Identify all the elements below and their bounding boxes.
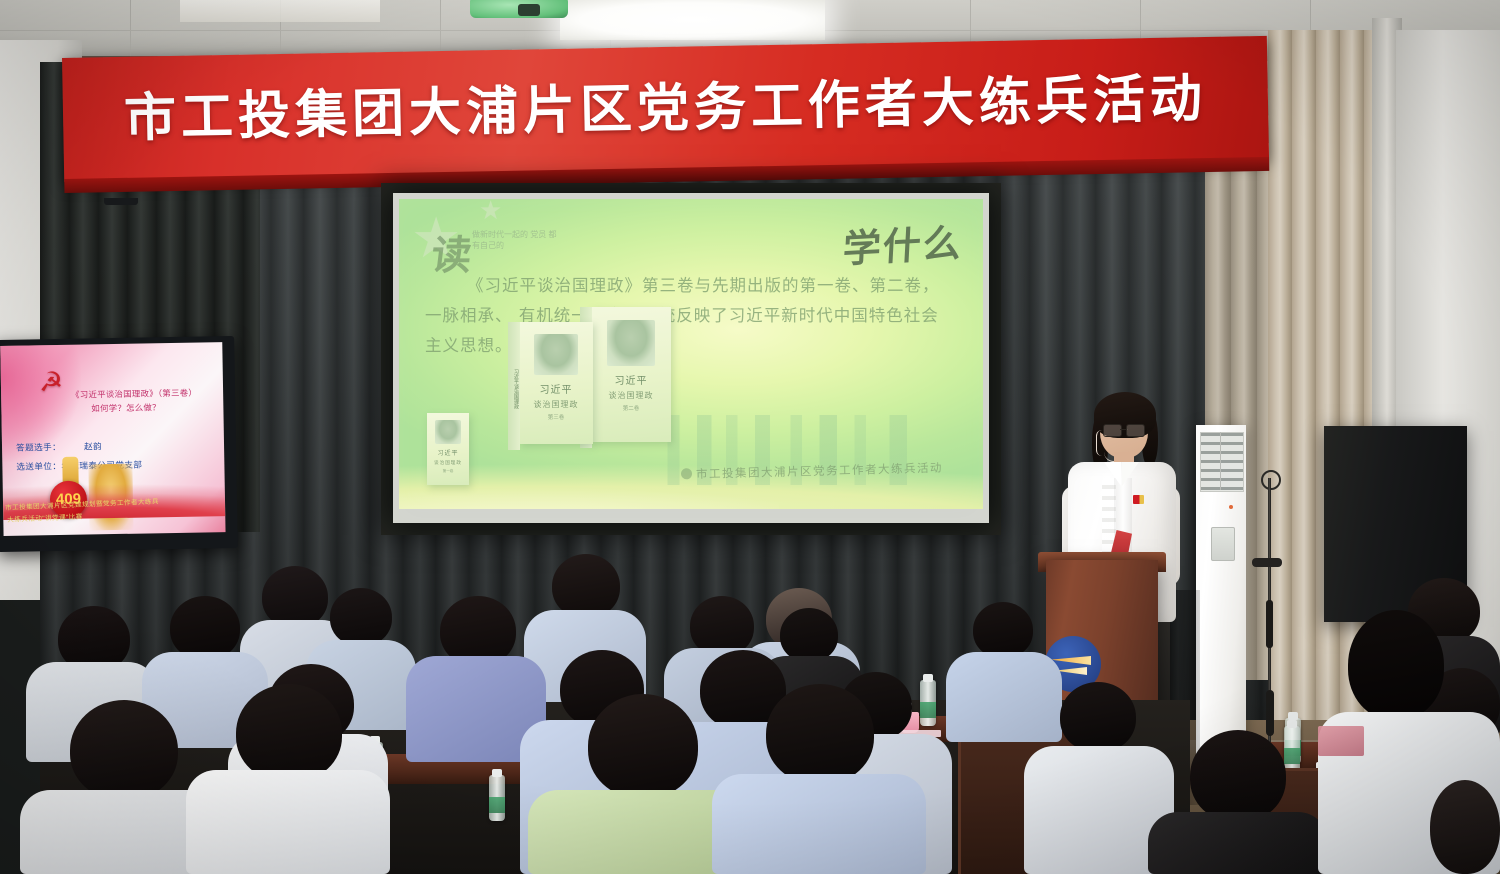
book-cover-volume-2: 习近平谈治国理政 习近平 谈治国理政 第二卷: [591, 307, 671, 442]
conference-hall-photo: 市工投集团大浦片区党务工作者大练兵活动 ★ ★ 读 做新时代一起的 党员 都有自…: [0, 0, 1500, 874]
tv-contestant-label: 答题选手：: [16, 441, 61, 454]
star-icon-small: ★: [479, 199, 502, 226]
ac-vent-louvers-icon: [1200, 432, 1244, 492]
book-volume-3: 第一卷: [443, 469, 454, 474]
book-author-3: 习近平: [437, 448, 458, 457]
ac-control-panel[interactable]: [1211, 527, 1235, 561]
ceiling-light-panel: [560, 0, 825, 40]
book-cover-volume-3: 习近平 谈治国理政 第一卷: [427, 413, 469, 485]
mic-stand-clamp[interactable]: [1252, 558, 1282, 567]
party-emblem-pin-icon: [1133, 495, 1144, 504]
projection-screen-mat: ★ ★ 读 做新时代一起的 党员 都有自己的 学什么 《习近平谈治国理政》第三卷…: [393, 193, 989, 523]
watermark-logo-icon: [681, 468, 692, 479]
book-author-1: 习近平: [540, 381, 573, 396]
book-volume-2: 第二卷: [623, 404, 640, 412]
tv-contestant-name: 赵韵: [84, 440, 102, 452]
book-cover-volume-1: 习近平谈治国理政 习近平 谈治国理政 第三卷: [519, 322, 593, 444]
tv-monitor-screen: ☭ 《习近平谈治国理政》（第三卷） 如何学？怎么做？ 答题选手： 赵韵 选送单位…: [0, 342, 225, 536]
book-portrait-icon-3: [435, 420, 460, 444]
ceiling-light-secondary: [180, 0, 380, 22]
water-bottle[interactable]: [489, 775, 505, 821]
tv-stand: [104, 198, 138, 205]
mic-stand-grip-lower: [1266, 690, 1274, 736]
slide-read-subtext: 做新时代一起的 党员 都有自己的: [472, 229, 562, 251]
book-title-2: 谈治国理政: [609, 390, 654, 401]
eyeglasses-icon: [1103, 424, 1145, 435]
book-title-3: 谈治国理政: [434, 460, 462, 466]
book-author-2: 习近平: [615, 372, 648, 387]
projector-lens-icon: [518, 4, 540, 16]
banner-title: 市工投集团大浦片区党务工作者大练兵活动: [124, 73, 1208, 145]
book-portrait-icon-2: [607, 320, 655, 366]
tv-title-line-1: 《习近平谈治国理政》（第三卷）: [71, 387, 197, 401]
ac-vent-divider: [1220, 432, 1221, 490]
projection-screen-content: ★ ★ 读 做新时代一起的 党员 都有自己的 学什么 《习近平谈治国理政》第三卷…: [399, 199, 983, 509]
water-bottle[interactable]: [1284, 726, 1300, 772]
book-spine-1: 习近平谈治国理政: [508, 322, 520, 450]
slide-body-text: 《习近平谈治国理政》第三卷与先期出版的第一卷、第二卷，一脉相承、 有机统一，全面…: [425, 271, 955, 361]
ac-power-led-icon: [1229, 505, 1233, 509]
tv-footer-line-2: 大练兵活动"讲党课"比赛: [7, 511, 83, 524]
hammer-sickle-icon: ☭: [39, 367, 64, 398]
tv-monitor: ☭ 《习近平谈治国理政》（第三卷） 如何学？怎么做？ 答题选手： 赵韵 选送单位…: [0, 336, 238, 552]
book-volume-1: 第三卷: [548, 413, 565, 421]
event-banner: 市工投集团大浦片区党务工作者大练兵活动: [62, 36, 1269, 182]
slide-learn-what-heading: 学什么: [842, 212, 965, 274]
book-portrait-icon-1: [534, 334, 578, 375]
book-title-1: 谈治国理政: [534, 399, 579, 410]
mic-stand-grip: [1266, 600, 1273, 648]
mic-stand-ring-icon: [1261, 470, 1281, 490]
water-bottle[interactable]: [920, 680, 936, 726]
projection-screen-frame: ★ ★ 读 做新时代一起的 党员 都有自己的 学什么 《习近平谈治国理政》第三卷…: [381, 183, 1001, 535]
pink-handout[interactable]: [1318, 726, 1364, 756]
tv-title-line-2: 如何学？怎么做？: [91, 401, 161, 414]
